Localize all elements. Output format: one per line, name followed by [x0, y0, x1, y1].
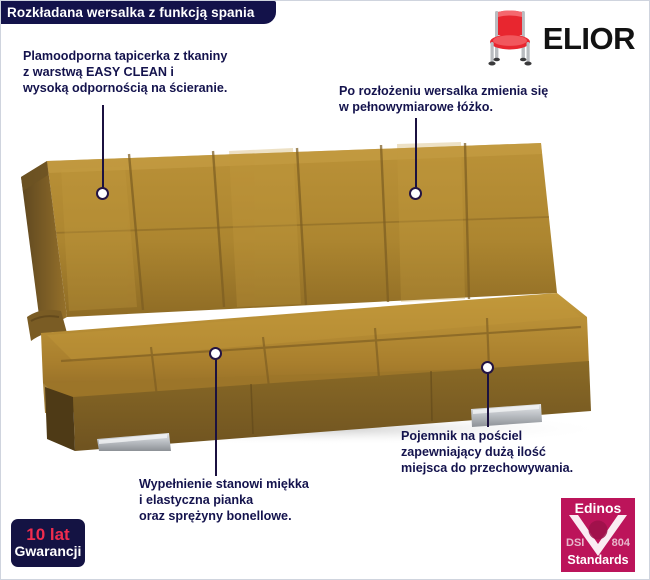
- page-title: Rozkładana wersalka z funkcją spania: [7, 5, 254, 20]
- product-image: [1, 121, 650, 451]
- callout-text-storage: Pojemnik na pościel zapewniający dużą il…: [401, 429, 573, 477]
- warranty-label: Gwarancji: [15, 544, 82, 559]
- leader-line-foam: [215, 359, 217, 476]
- edinos-codes: DSI 804: [561, 538, 635, 549]
- edinos-code-right: 804: [612, 538, 630, 549]
- callout-text-bed: Po rozłożeniu wersalka zmienia się w peł…: [339, 84, 548, 116]
- callout-dot-bed: [409, 187, 422, 200]
- edinos-standards-badge: Edinos DSI 804 Standards: [561, 498, 635, 572]
- warranty-years: 10 lat: [26, 526, 69, 543]
- warranty-badge: 10 lat Gwarancji: [11, 519, 85, 567]
- edinos-brand: Edinos: [575, 501, 622, 515]
- leader-line-bed: [415, 118, 417, 193]
- title-banner: Rozkładana wersalka z funkcją spania: [0, 1, 276, 24]
- callout-text-fabric: Plamoodporna tapicerka z tkaniny z warst…: [23, 49, 227, 97]
- callout-text-foam: Wypełnienie stanowi miękka i elastyczna …: [139, 477, 309, 525]
- callout-dot-storage: [481, 361, 494, 374]
- leader-line-storage: [487, 373, 489, 427]
- brand-logo: ELIOR: [483, 9, 635, 67]
- leader-line-fabric: [102, 105, 104, 193]
- v-check-icon: [561, 514, 635, 558]
- sofa-illustration: [1, 121, 650, 451]
- callout-dot-foam: [209, 347, 222, 360]
- callout-dot-fabric: [96, 187, 109, 200]
- infographic-canvas: Rozkładana wersalka z funkcją spania ELI…: [0, 0, 650, 580]
- edinos-standards-label: Standards: [561, 553, 635, 567]
- edinos-code-left: DSI: [566, 538, 584, 549]
- brand-name: ELIOR: [543, 23, 635, 54]
- red-chair-icon: [483, 9, 537, 67]
